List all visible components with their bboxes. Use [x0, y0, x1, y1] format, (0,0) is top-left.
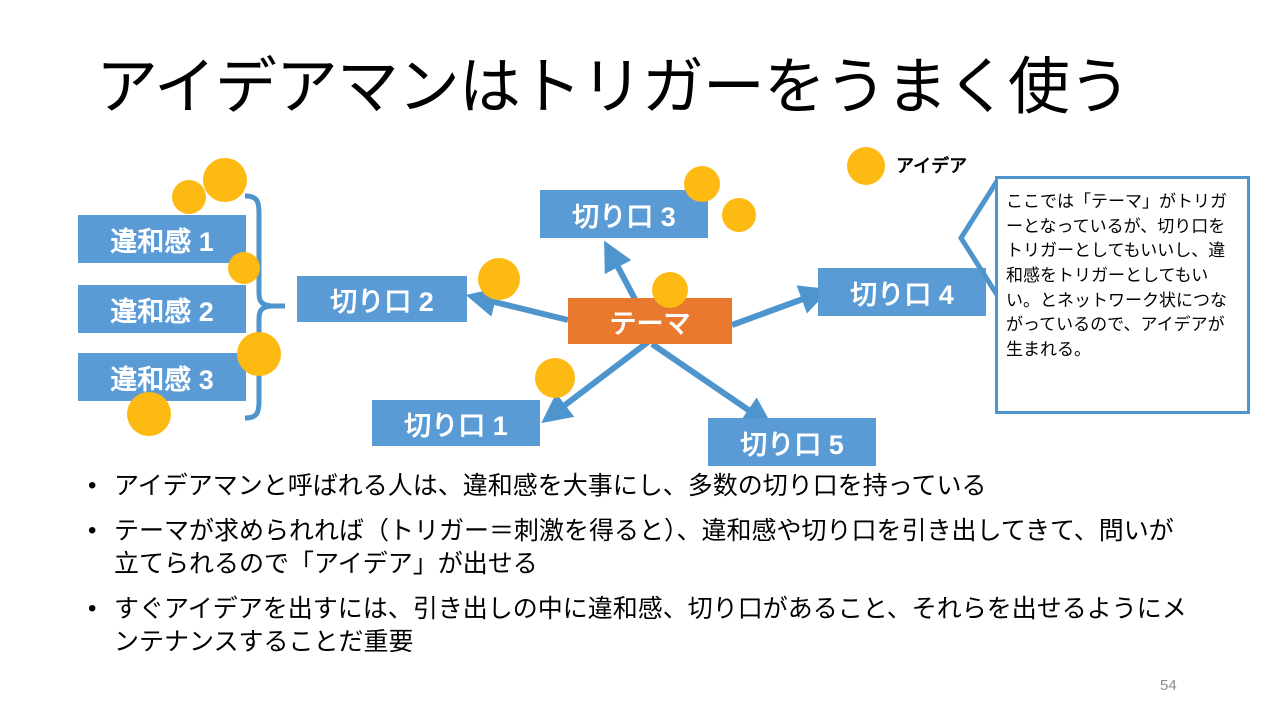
- discomfort-box-1[interactable]: 違和感 1: [78, 215, 246, 263]
- callout-text: ここでは「テーマ」がトリガーとなっているが、切り口をトリガーとしてもいいし、違和…: [1006, 190, 1238, 362]
- discomfort-box-2-label: 違和感 2: [110, 290, 214, 329]
- aspect-box-3[interactable]: 切り口 3: [540, 190, 708, 238]
- aspect-box-5-label: 切り口 5: [740, 423, 844, 462]
- theme-box-label: テーマ: [610, 302, 691, 341]
- legend-idea-circle-icon: [847, 147, 885, 185]
- theme-box[interactable]: テーマ: [568, 298, 732, 344]
- bullet-item: • アイデアマンと呼ばれる人は、違和感を大事にし、多数の切り口を持っている: [88, 470, 1198, 503]
- idea-circle: [203, 158, 247, 202]
- arrow-theme-to-aspect5: [652, 344, 766, 422]
- aspect-box-2[interactable]: 切り口 2: [297, 276, 467, 322]
- legend-label: アイデア: [896, 152, 967, 178]
- page-number: 54: [1160, 677, 1177, 694]
- bullet-item: • すぐアイデアを出すには、引き出しの中に違和感、切り口があること、それらを出せ…: [88, 593, 1198, 659]
- arrow-theme-to-aspect4: [732, 292, 822, 325]
- aspect-box-4-label: 切り口 4: [850, 273, 954, 312]
- page-title: アイデアマンはトリガーをうまく使う: [96, 54, 1196, 122]
- idea-circle: [127, 392, 171, 436]
- bullet-marker: •: [88, 515, 114, 547]
- bullet-text: すぐアイデアを出すには、引き出しの中に違和感、切り口があること、それらを出せるよ…: [114, 593, 1198, 659]
- aspect-box-5[interactable]: 切り口 5: [708, 418, 876, 466]
- arrow-theme-to-aspect3: [608, 248, 638, 305]
- bullet-marker: •: [88, 593, 114, 625]
- idea-circle: [478, 258, 520, 300]
- bullet-item: • テーマが求められれば（トリガー＝刺激を得ると）、違和感や切り口を引き出してき…: [88, 515, 1198, 581]
- bullet-list: • アイデアマンと呼ばれる人は、違和感を大事にし、多数の切り口を持っている • …: [88, 470, 1198, 671]
- aspect-box-1[interactable]: 切り口 1: [372, 400, 540, 446]
- bullet-text: アイデアマンと呼ばれる人は、違和感を大事にし、多数の切り口を持っている: [114, 470, 1198, 503]
- idea-circle: [237, 332, 281, 376]
- idea-circle: [172, 180, 206, 214]
- arrow-theme-to-aspect2: [474, 297, 568, 320]
- discomfort-group-brace: [243, 193, 289, 423]
- idea-circle: [652, 272, 688, 308]
- idea-circle: [228, 252, 260, 284]
- bullet-text: テーマが求められれば（トリガー＝刺激を得ると）、違和感や切り口を引き出してきて、…: [114, 515, 1198, 581]
- idea-circle: [722, 198, 756, 232]
- discomfort-box-3-label: 違和感 3: [110, 358, 214, 397]
- aspect-box-1-label: 切り口 1: [404, 404, 508, 443]
- aspect-box-3-label: 切り口 3: [572, 195, 676, 234]
- idea-circle: [535, 358, 575, 398]
- slide-canvas: アイデアマンはトリガーをうまく使う 違和感 1 違和感 2 違和感 3 切り口 …: [0, 0, 1280, 720]
- aspect-box-2-label: 切り口 2: [330, 280, 434, 319]
- discomfort-box-1-label: 違和感 1: [110, 220, 214, 259]
- discomfort-box-3[interactable]: 違和感 3: [78, 353, 246, 401]
- bullet-marker: •: [88, 470, 114, 502]
- discomfort-box-2[interactable]: 違和感 2: [78, 285, 246, 333]
- idea-circle: [684, 166, 720, 202]
